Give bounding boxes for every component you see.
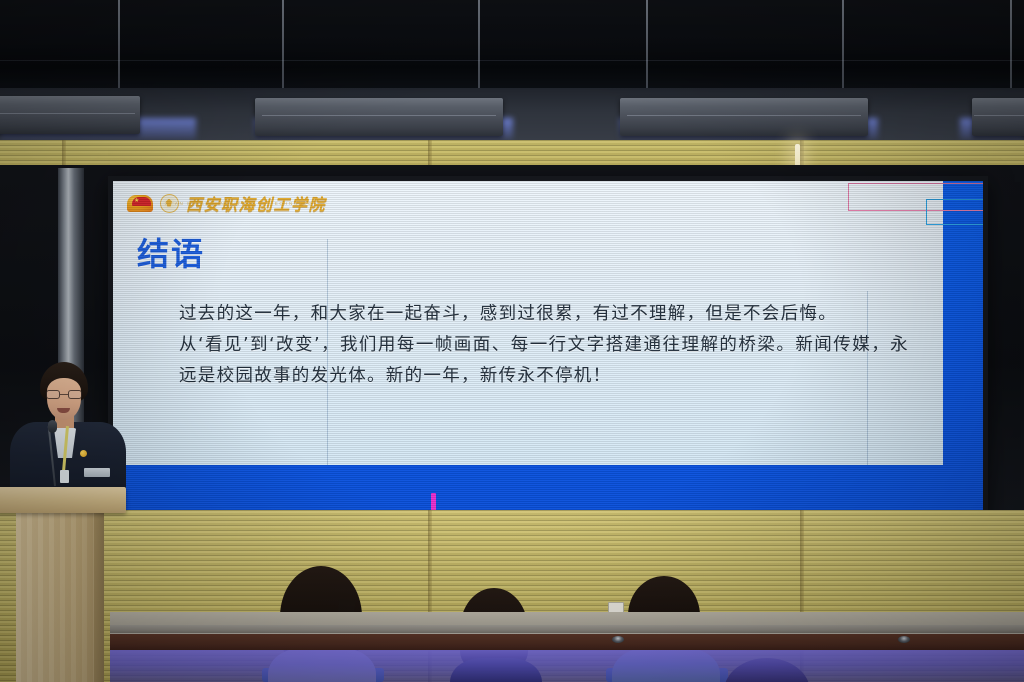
university-name-english: XI'AN MINGDE INSTITUTE OF TECHNOLOGY: [165, 201, 318, 206]
lecture-hall-scene: ★ 西安职海创工学院 XI'AN MINGDE INSTITUTE OF TEC…: [0, 0, 1024, 682]
slide-body-text: 过去的这一年，和大家在一起奋斗，感到过很累，有过不理解，但是不会后悔。 从‘看见…: [179, 299, 909, 392]
ceiling-seam: [0, 60, 1024, 61]
speaker-podium: [0, 487, 126, 682]
speaker-glasses-icon: [46, 390, 82, 399]
desk-cable-grommet: [612, 636, 624, 643]
glasses-bridge: [60, 394, 68, 395]
ceiling-light-baffle: [972, 98, 1024, 136]
ceiling-light-baffle: [255, 98, 503, 136]
podium-top-surface: [0, 487, 126, 513]
speaker-face: [47, 378, 81, 420]
glasses-lens-right: [68, 390, 82, 399]
speaker-figure: [8, 362, 128, 497]
speaker-pocket-square: [84, 468, 110, 477]
desk-front-panel: [110, 634, 1024, 650]
ceiling-light-baffle: [0, 96, 140, 134]
flag-star-icon: ★: [134, 198, 139, 204]
desk-underglow-led: [110, 650, 1024, 682]
desk-cable-grommet: [898, 636, 910, 643]
presentation-slide[interactable]: ★ 西安职海创工学院 XI'AN MINGDE INSTITUTE OF TEC…: [113, 181, 983, 519]
microphone-head-icon: [48, 420, 57, 433]
desk-backing-panel: [110, 612, 1024, 626]
podium-side-edge: [94, 513, 104, 682]
ceiling-light-baffle: [620, 98, 868, 136]
decorative-rect-cyan: [926, 199, 983, 225]
speaker-lapel-pin: [80, 450, 87, 457]
slide-body-line: 从‘看见’到‘改变’，我们用每一帧画面、每一行文字搭建通往理解的桥梁。新闻传媒，…: [179, 330, 909, 392]
slide-progress-marker: [431, 493, 436, 511]
slide-title: 结语: [137, 229, 205, 275]
podium-body: [16, 513, 102, 682]
slide-body-line: 过去的这一年，和大家在一起奋斗，感到过很累，有过不理解，但是不会后悔。: [179, 299, 909, 330]
glasses-lens-left: [46, 390, 60, 399]
speaker-name-badge: [60, 470, 69, 483]
led-display-screen[interactable]: ★ 西安职海创工学院 XI'AN MINGDE INSTITUTE OF TEC…: [108, 176, 988, 524]
party-emblem-flag-icon: ★: [127, 195, 153, 212]
